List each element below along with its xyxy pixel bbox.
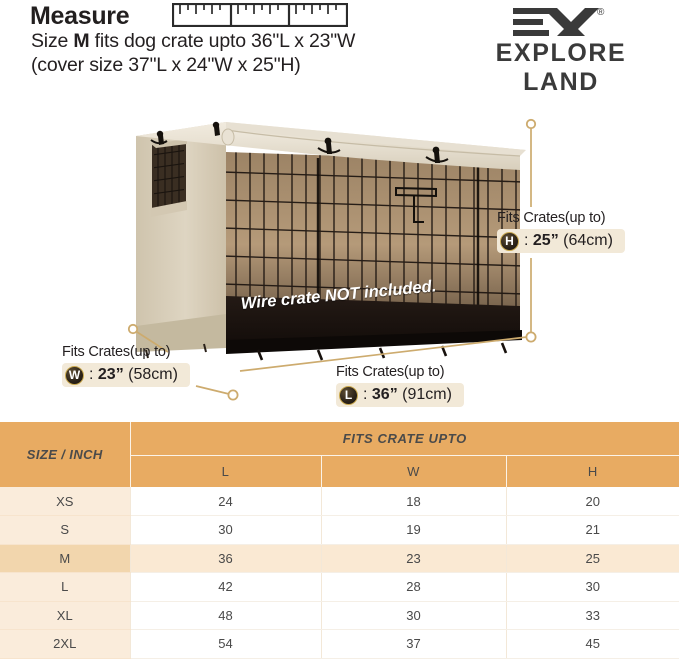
product-image bbox=[118, 100, 538, 370]
header-col-h: H bbox=[506, 456, 679, 488]
size-letter: M bbox=[73, 30, 89, 52]
callout-length-separator: : bbox=[363, 386, 367, 403]
header-size-inch: SIZE / INCH bbox=[0, 422, 130, 487]
size-prefix: Size bbox=[31, 30, 73, 52]
callout-length-title: Fits Crates(up to) bbox=[336, 364, 464, 380]
callout-height-imperial: 25” bbox=[533, 232, 559, 249]
cell-h: 25 bbox=[506, 544, 679, 573]
cell-w: 28 bbox=[321, 573, 506, 602]
size-chart-table: SIZE / INCH FITS CRATE UPTO L W H XS 24 … bbox=[0, 422, 679, 659]
table-row: L 42 28 30 bbox=[0, 573, 679, 602]
cell-h: 20 bbox=[506, 487, 679, 516]
table-row: XS 24 18 20 bbox=[0, 487, 679, 516]
callout-height-metric: (64cm) bbox=[563, 232, 613, 249]
badge-w-icon: W bbox=[65, 366, 84, 385]
table-row: S 30 19 21 bbox=[0, 516, 679, 545]
callout-width-separator: : bbox=[89, 366, 93, 383]
leader-node-w-bottom bbox=[228, 390, 237, 399]
cell-w: 30 bbox=[321, 601, 506, 630]
ruler-icon bbox=[172, 3, 348, 27]
size-description-line-2: (cover size 37"L x 24"W x 25"H) bbox=[31, 54, 301, 77]
registered-trademark-icon: ® bbox=[597, 7, 604, 18]
ex-monogram-icon bbox=[513, 6, 599, 40]
cell-h: 21 bbox=[506, 516, 679, 545]
callout-width-value: : 23” (58cm) bbox=[89, 366, 178, 384]
callout-height-value: : 25” (64cm) bbox=[524, 232, 613, 250]
cell-w: 23 bbox=[321, 544, 506, 573]
callout-width-metric: (58cm) bbox=[128, 366, 178, 383]
size-suffix: fits dog crate upto 36"L x 23"W bbox=[89, 30, 355, 52]
table-row: XL 48 30 33 bbox=[0, 601, 679, 630]
cell-size: M bbox=[0, 544, 130, 573]
cell-h: 30 bbox=[506, 573, 679, 602]
table-header-row-group: SIZE / INCH FITS CRATE UPTO bbox=[0, 422, 679, 456]
cell-h: 33 bbox=[506, 601, 679, 630]
badge-l-icon: L bbox=[339, 386, 358, 405]
header-col-l: L bbox=[130, 456, 321, 488]
callout-height-title: Fits Crates(up to) bbox=[497, 210, 625, 226]
table-row-highlighted: M 36 23 25 bbox=[0, 544, 679, 573]
header-col-w: W bbox=[321, 456, 506, 488]
cell-size: 2XL bbox=[0, 630, 130, 659]
brand-wordmark: EXPLORE LAND bbox=[461, 39, 661, 97]
page-title: Measure bbox=[30, 2, 129, 31]
callout-length-pill: L : 36” (91cm) bbox=[336, 383, 464, 407]
cell-size: S bbox=[0, 516, 130, 545]
callout-height-pill: H : 25” (64cm) bbox=[497, 229, 625, 253]
header-fits-crate-upto: FITS CRATE UPTO bbox=[130, 422, 679, 456]
callout-width-imperial: 23” bbox=[98, 366, 124, 383]
cell-l: 48 bbox=[130, 601, 321, 630]
table-row: 2XL 54 37 45 bbox=[0, 630, 679, 659]
cell-w: 19 bbox=[321, 516, 506, 545]
callout-width-pill: W : 23” (58cm) bbox=[62, 363, 190, 387]
cell-size: XS bbox=[0, 487, 130, 516]
cell-l: 42 bbox=[130, 573, 321, 602]
cell-w: 37 bbox=[321, 630, 506, 659]
callout-length-value: : 36” (91cm) bbox=[363, 386, 452, 404]
cell-w: 18 bbox=[321, 487, 506, 516]
header-section: Measure Size M fits dog crate upto 36"L … bbox=[0, 0, 679, 110]
cell-l: 24 bbox=[130, 487, 321, 516]
leader-line-w-lower bbox=[196, 386, 229, 394]
size-description-line-1: Size M fits dog crate upto 36"L x 23"W bbox=[31, 30, 355, 53]
callout-length: Fits Crates(up to) L : 36” (91cm) bbox=[336, 364, 464, 407]
callout-width: Fits Crates(up to) W : 23” (58cm) bbox=[62, 344, 190, 387]
callout-length-metric: (91cm) bbox=[402, 386, 452, 403]
cell-l: 30 bbox=[130, 516, 321, 545]
badge-h-icon: H bbox=[500, 232, 519, 251]
callout-height-separator: : bbox=[524, 232, 528, 249]
callout-length-imperial: 36” bbox=[372, 386, 398, 403]
cell-size: XL bbox=[0, 601, 130, 630]
cell-h: 45 bbox=[506, 630, 679, 659]
callout-width-title: Fits Crates(up to) bbox=[62, 344, 190, 360]
cell-l: 54 bbox=[130, 630, 321, 659]
callout-height: Fits Crates(up to) H : 25” (64cm) bbox=[497, 210, 625, 253]
cell-size: L bbox=[0, 573, 130, 602]
brand-logo: ® EXPLORE LAND bbox=[461, 6, 661, 68]
cell-l: 36 bbox=[130, 544, 321, 573]
